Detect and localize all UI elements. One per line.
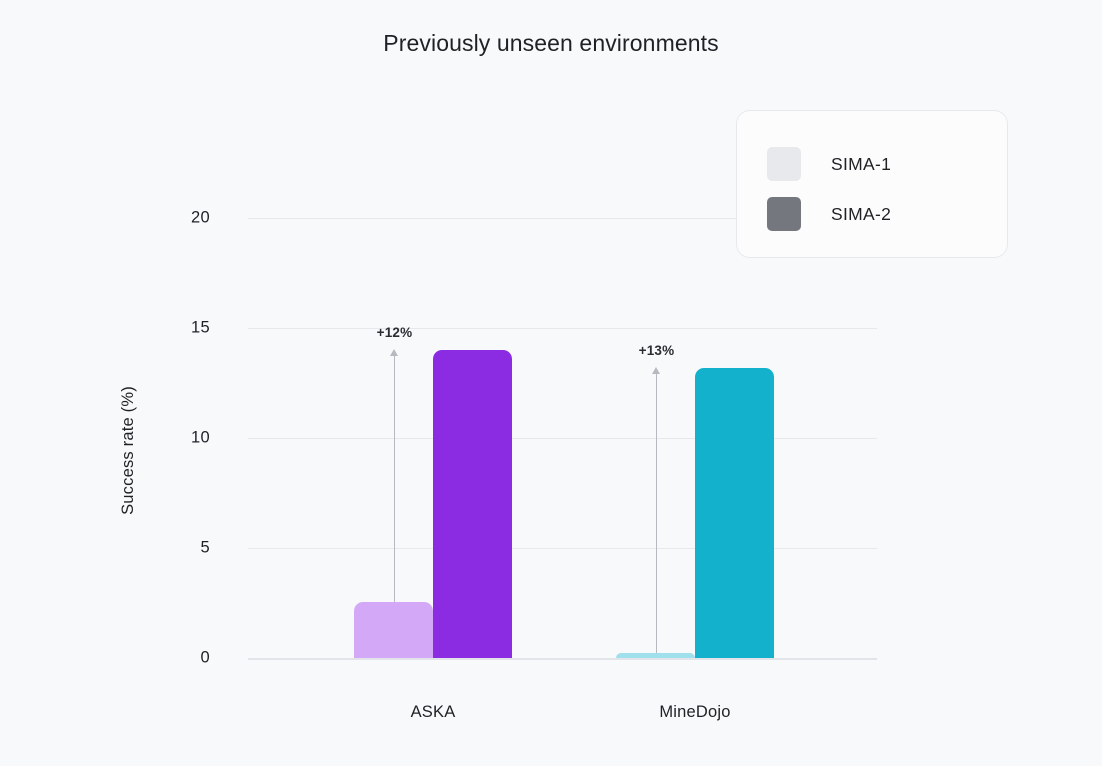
bar-minedojo-sima-1[interactable]: [616, 653, 695, 659]
axis-baseline: [248, 658, 877, 660]
arrow-up-icon: [652, 367, 660, 374]
delta-label-aska: +12%: [377, 325, 413, 340]
bar-chart: Previously unseen environments Success r…: [0, 0, 1102, 766]
y-tick-label: 5: [201, 539, 210, 558]
y-tick-label: 0: [201, 649, 210, 668]
legend-label: SIMA-2: [831, 204, 891, 225]
x-tick-label-aska: ASKA: [411, 703, 456, 722]
gridline: [248, 548, 877, 549]
legend-item-sima-1[interactable]: SIMA-1: [767, 139, 1007, 189]
chart-legend: SIMA-1SIMA-2: [736, 110, 1008, 258]
x-tick-label-minedojo: MineDojo: [659, 703, 730, 722]
y-tick-label: 10: [191, 429, 210, 448]
legend-item-sima-2[interactable]: SIMA-2: [767, 189, 1007, 239]
bar-minedojo-sima-2[interactable]: [695, 368, 774, 658]
gridline: [248, 328, 877, 329]
arrow-shaft-icon: [656, 374, 657, 653]
bar-aska-sima-1[interactable]: [354, 602, 433, 658]
legend-swatch-icon: [767, 147, 801, 181]
gridline: [248, 438, 877, 439]
chart-title: Previously unseen environments: [0, 30, 1102, 57]
y-tick-label: 20: [191, 209, 210, 228]
delta-label-minedojo: +13%: [639, 343, 675, 358]
arrow-shaft-icon: [394, 356, 395, 602]
y-axis-tick-labels: 05101520: [0, 185, 236, 658]
y-tick-label: 15: [191, 319, 210, 338]
arrow-up-icon: [390, 349, 398, 356]
bar-aska-sima-2[interactable]: [433, 350, 512, 658]
legend-swatch-icon: [767, 197, 801, 231]
legend-label: SIMA-1: [831, 154, 891, 175]
